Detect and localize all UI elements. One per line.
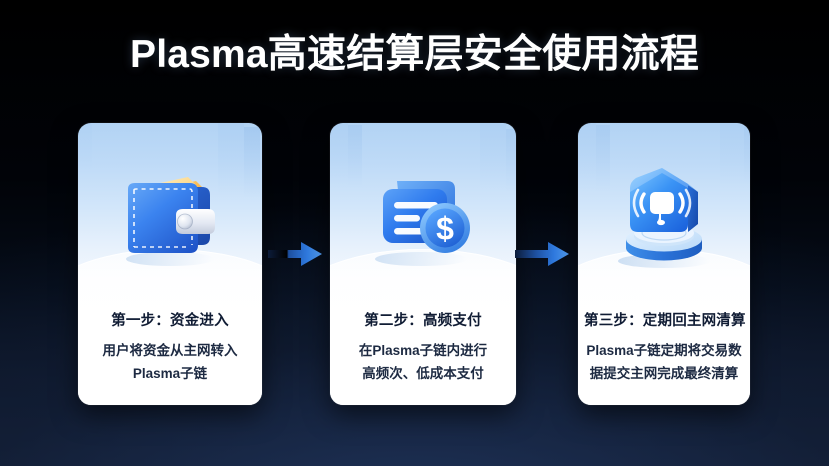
step-3-heading: 第三步：定期回主网清算 [584,309,744,330]
step-2-body-line-2: 高频次、低成本支付 [338,362,508,385]
step-3-body: Plasma子链定期将交易数 据提交主网完成最终清算 [586,339,742,385]
arrow-right-icon-2 [515,239,571,269]
arrow-right-icon-1 [268,239,324,269]
step-2-body: 在Plasma子链内进行 高频次、低成本支付 [338,339,508,385]
step-3-body-line-2: 据提交主网完成最终清算 [586,362,742,385]
page-title: Plasma高速结算层安全使用流程 [0,34,829,77]
wallet-icon [78,157,262,277]
step-1-body-line-2: Plasma子链 [86,362,254,385]
step-1-body-line-1: 用户将资金从主网转入 [86,339,254,362]
slide-canvas: Plasma高速结算层安全使用流程 [0,0,829,466]
step-2-heading: 第二步：高频支付 [336,309,510,330]
step-card-2[interactable]: $ 第二步：高频支付 在Plasma子链内进行 高频次、低成本支付 [330,123,516,405]
svg-text:$: $ [436,211,454,247]
step-card-3[interactable]: 第三步：定期回主网清算 Plasma子链定期将交易数 据提交主网完成最终清算 [578,123,750,405]
settlement-node-icon [578,157,750,277]
step-2-body-line-1: 在Plasma子链内进行 [338,339,508,362]
step-1-heading: 第一步：资金进入 [84,309,256,330]
step-card-1[interactable]: 第一步：资金进入 用户将资金从主网转入 Plasma子链 [78,123,262,405]
payment-card-coin-icon: $ [330,157,516,277]
step-1-body: 用户将资金从主网转入 Plasma子链 [86,339,254,385]
step-3-body-line-1: Plasma子链定期将交易数 [586,339,742,362]
